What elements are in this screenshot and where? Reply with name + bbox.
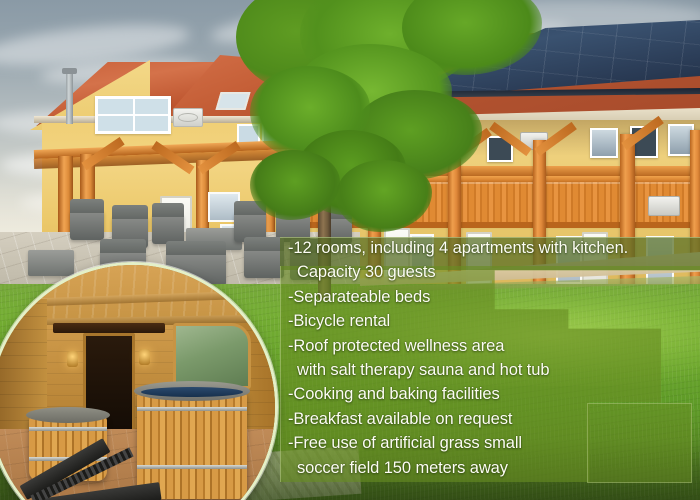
features-list: -12 rooms, including 4 apartments with k…	[288, 236, 700, 480]
feature-line: Capacity 30 guests	[288, 260, 700, 284]
wall-lamp	[67, 351, 78, 367]
wellness-room	[0, 265, 275, 500]
skylight	[215, 92, 250, 110]
feature-line: -Free use of artificial grass small	[288, 431, 700, 455]
patio-chair	[70, 210, 104, 240]
chimney-pipe	[66, 72, 73, 124]
wellness-area-photo	[0, 262, 278, 500]
room-window	[173, 323, 251, 389]
feature-line: with salt therapy sauna and hot tub	[288, 358, 700, 382]
feature-line: -Roof protected wellness area	[288, 334, 700, 358]
feature-line: -Separateable beds	[288, 285, 700, 309]
feature-line: -12 rooms, including 4 apartments with k…	[288, 236, 700, 260]
wall-lamp	[139, 349, 150, 365]
feature-line: -Bicycle rental	[288, 309, 700, 333]
feature-line: -Breakfast available on request	[288, 407, 700, 431]
window-upper	[95, 96, 171, 134]
air-conditioner-unit	[173, 108, 203, 127]
feature-line: -Cooking and baking facilities	[288, 382, 700, 406]
air-conditioner-unit	[648, 196, 680, 216]
window-upper	[590, 128, 618, 158]
chimney-cap	[62, 68, 77, 74]
feature-line: soccer field 150 meters away	[288, 456, 700, 480]
door-header-beam	[53, 323, 165, 333]
patio-chair	[152, 214, 184, 244]
promo-image: -12 rooms, including 4 apartments with k…	[0, 0, 700, 500]
